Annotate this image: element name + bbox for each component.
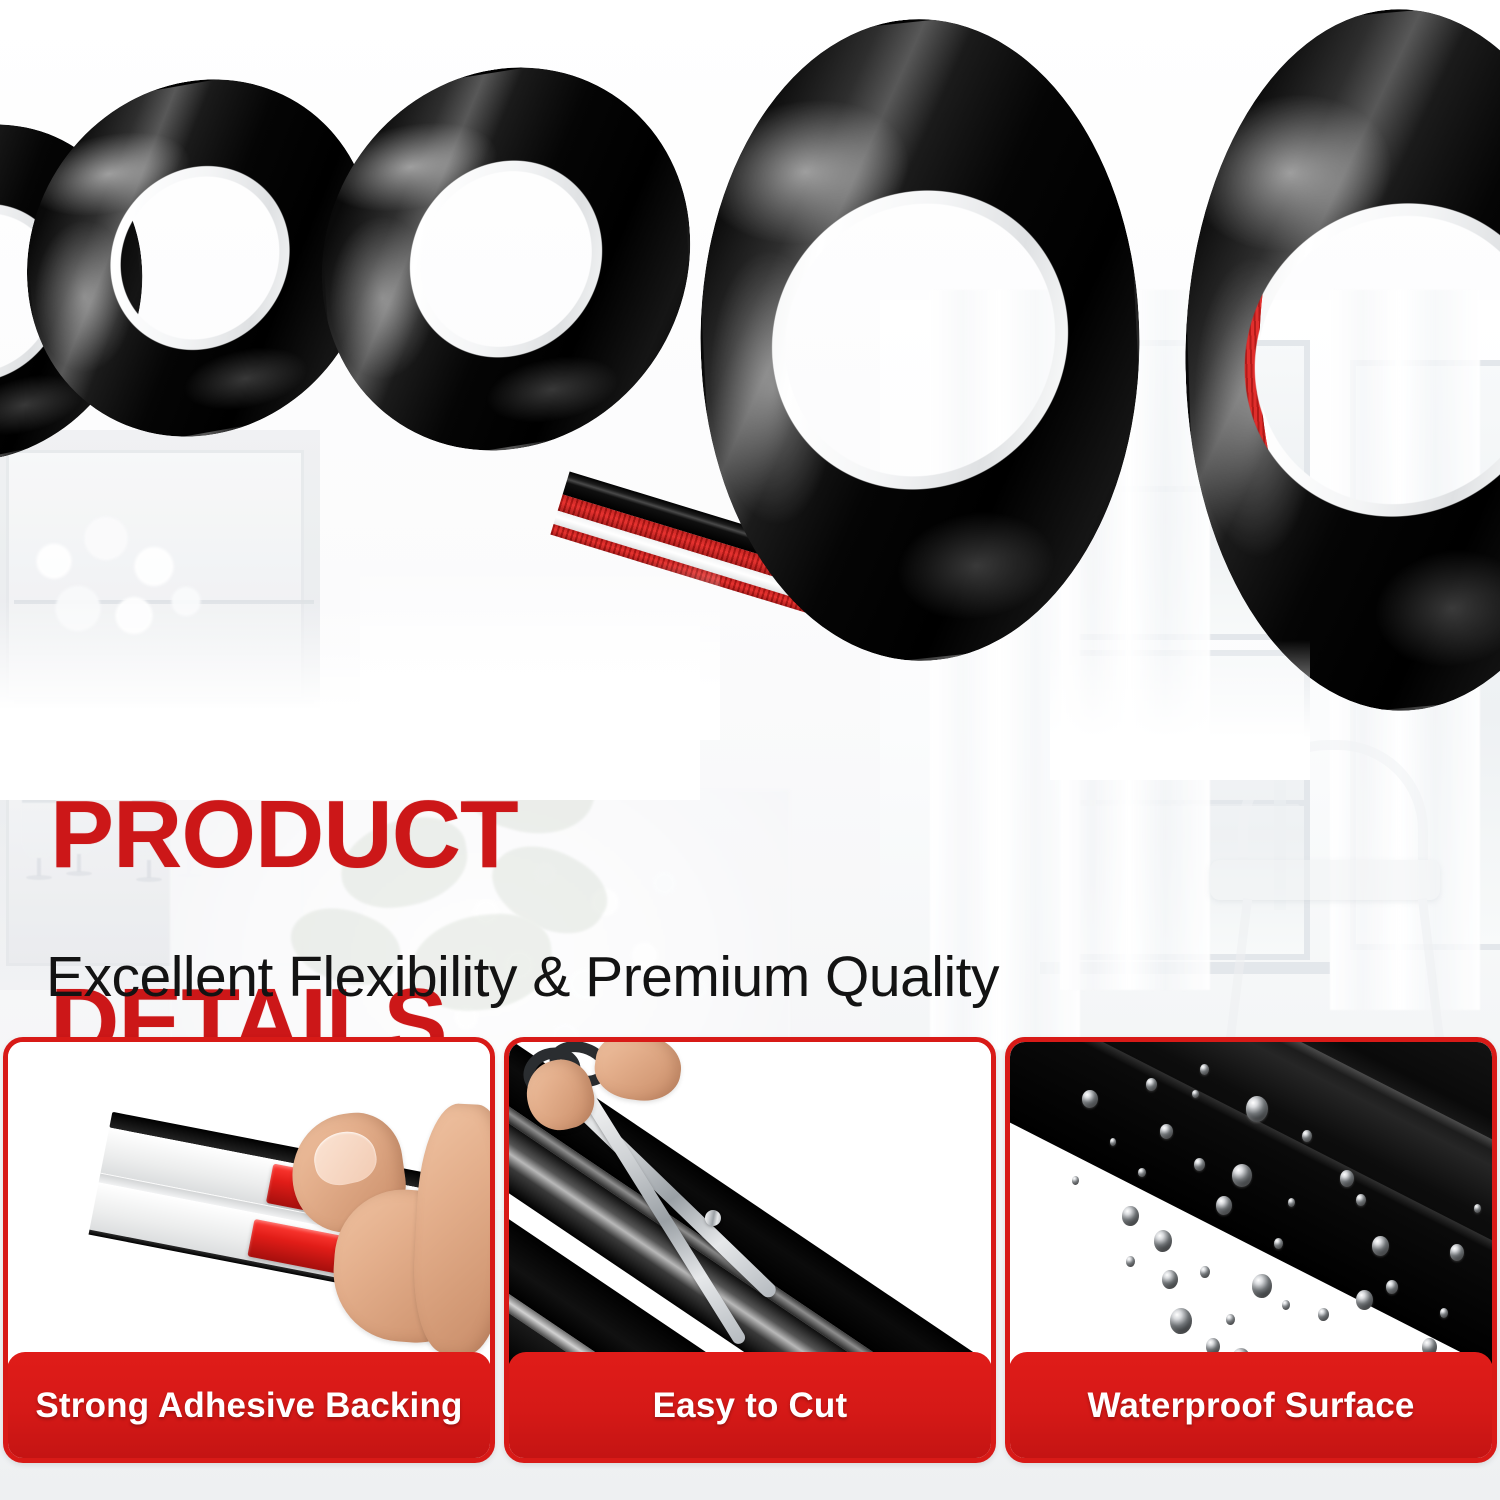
water-droplet [1200, 1266, 1210, 1278]
water-droplet [1340, 1170, 1354, 1187]
waterproof-surface-photo [1010, 1042, 1492, 1364]
water-droplet [1288, 1198, 1295, 1207]
water-droplet [1110, 1138, 1116, 1146]
water-droplet [1232, 1164, 1252, 1187]
water-droplet [1072, 1176, 1079, 1185]
scissors-icon [509, 1042, 991, 1364]
water-droplet [1318, 1308, 1329, 1321]
water-droplet [1474, 1204, 1481, 1213]
water-droplet [1216, 1196, 1232, 1215]
page-subtitle: Excellent Flexibility & Premium Quality [46, 944, 1296, 1010]
water-droplet [1146, 1078, 1157, 1091]
water-droplet [1160, 1124, 1173, 1139]
title-line-1: PRODUCT [50, 788, 950, 882]
chair-seat [1210, 860, 1440, 900]
water-droplet [1386, 1280, 1398, 1294]
water-droplet [1192, 1090, 1199, 1098]
feature-panel-strong-adhesive-backing[interactable]: Strong Adhesive Backing [3, 1037, 495, 1463]
water-droplet [1226, 1314, 1235, 1325]
feature-caption: Strong Adhesive Backing [7, 1352, 491, 1459]
water-droplet [1302, 1130, 1312, 1142]
middle-finger [410, 1102, 490, 1356]
water-droplet [1450, 1244, 1464, 1261]
hand-holding-tape [288, 1104, 490, 1354]
feature-panel-waterproof-surface[interactable]: Waterproof Surface [1005, 1037, 1497, 1463]
index-finger [591, 1042, 685, 1106]
chair-leg [1418, 898, 1445, 1048]
water-droplet [1126, 1256, 1135, 1267]
tape-outer-black [1174, 0, 1500, 729]
water-droplet [1082, 1090, 1098, 1108]
water-droplet [1274, 1238, 1283, 1249]
feature-panel-easy-to-cut[interactable]: Easy to Cut [504, 1037, 996, 1463]
hero-coiled-tape [0, 0, 1500, 760]
product-detail-image: PRODUCT DETAILS Excellent Flexibility & … [0, 0, 1500, 1500]
water-droplet [1440, 1308, 1448, 1318]
tape-outer-black [309, 41, 703, 478]
background-chair [1200, 740, 1470, 1060]
tape-outer-black [684, 0, 1155, 683]
water-droplet [1282, 1300, 1290, 1310]
tape-loop [684, 0, 1155, 683]
water-droplets-group [1010, 1042, 1492, 1364]
water-droplet [1122, 1206, 1139, 1226]
feature-caption: Waterproof Surface [1009, 1352, 1493, 1459]
water-droplet [1252, 1274, 1272, 1298]
water-droplet [1356, 1290, 1373, 1310]
scissor-blade-upper [560, 1088, 779, 1300]
tape-loop [1174, 0, 1500, 729]
water-droplet [1154, 1230, 1172, 1252]
water-droplet [1162, 1270, 1178, 1289]
scissor-blade-lower [577, 1085, 747, 1346]
adhesive-backing-photo [8, 1042, 490, 1364]
water-droplet [1194, 1158, 1205, 1171]
water-droplet [1372, 1236, 1389, 1256]
feature-caption: Easy to Cut [508, 1352, 992, 1459]
water-droplet [1246, 1096, 1268, 1122]
water-droplet [1170, 1308, 1192, 1334]
scissor-pivot [705, 1210, 721, 1226]
tape-loop [309, 41, 703, 478]
scene-mask [1050, 640, 1310, 780]
water-droplet [1138, 1168, 1146, 1177]
water-droplet [1200, 1064, 1209, 1075]
water-droplet [1356, 1194, 1366, 1206]
feature-panel-row: Strong Adhesive Backing [0, 1037, 1500, 1465]
easy-to-cut-photo [509, 1042, 991, 1364]
